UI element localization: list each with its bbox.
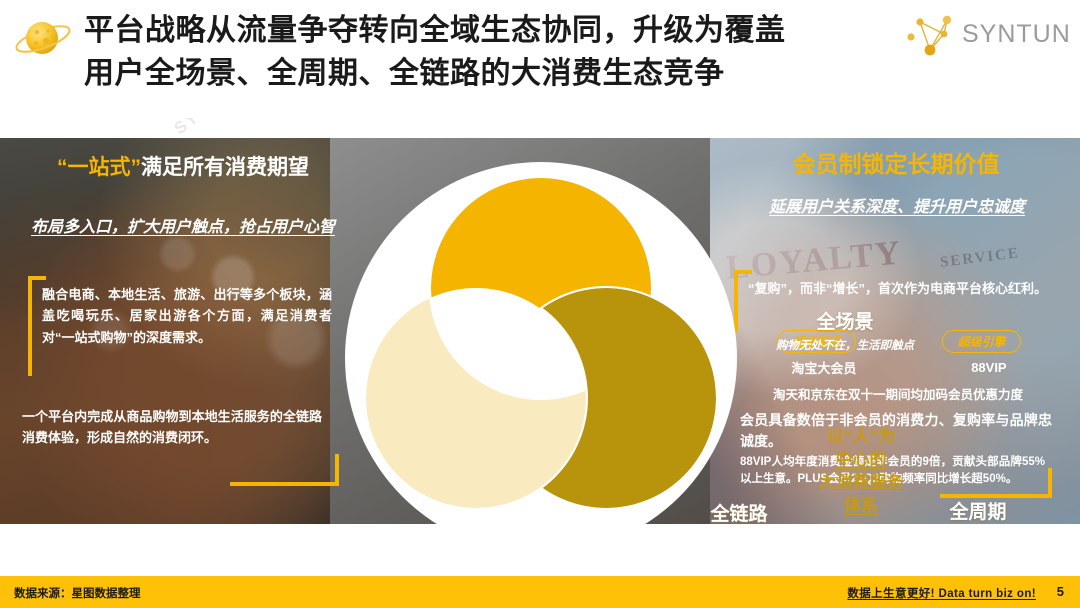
right-bracket-bottom (940, 468, 1052, 498)
badge-sub-88vip: 88VIP (971, 360, 1006, 375)
slide-footer: 数据来源：星图数据整理 数据上生意更好! Data turn biz on! 5 (0, 576, 1080, 608)
core-line2: 中心的 (786, 448, 936, 471)
page-title-line2: 用户全场景、全周期、全链路的大消费生态竞争 (84, 53, 874, 96)
slide-root: 平台战略从流量争夺转向全域生态协同，升级为覆盖 用户全场景、全周期、全链路的大消… (0, 0, 1080, 608)
badge-super-engine: 超级引擎 (942, 330, 1020, 353)
left-heading-rest: 满足所有消费期望 (141, 156, 309, 179)
right-panel-heading: 会员制锁定长期价值 (720, 150, 1072, 180)
badge-super-hub: 超级枢纽 (777, 330, 855, 353)
core-line3: 大消费服务 (786, 471, 936, 494)
content-band: LOYALTY SERVICE “一站式”满足所有消费期望 布局多入口，扩大用户… (0, 138, 1080, 524)
badge-subtitle-row: 淘宝大会员 88VIP (734, 358, 1064, 377)
slide-header: 平台战略从流量争夺转向全域生态协同，升级为覆盖 用户全场景、全周期、全链路的大消… (0, 0, 1080, 118)
wheel-core-label: 以“人”为 中心的 大消费服务 体系 (786, 425, 936, 517)
left-panel-heading: “一站式”满足所有消费期望 (18, 154, 348, 182)
page-title-line1: 平台战略从流量争夺转向全域生态协同，升级为覆盖 (84, 14, 786, 47)
syntun-network-icon (906, 12, 962, 58)
left-heading-highlight: “一站式” (57, 156, 141, 179)
footer-tagline: 数据上生意更好! Data turn biz on! (847, 585, 1036, 601)
planet-icon (12, 14, 74, 64)
core-line1: 以“人”为 (786, 425, 936, 448)
left-panel-body1: 融合电商、本地生活、旅游、出行等多个板块，涵盖吃喝玩乐、居家出游各个方面，满足消… (42, 284, 332, 348)
left-panel-subheading: 布局多入口，扩大用户触点，抢占用户心智 (18, 216, 348, 240)
right-panel-subheading: 延展用户关系深度、提升用户忠诚度 (732, 196, 1062, 220)
badge-row: 超级枢纽 超级引擎 (734, 330, 1064, 353)
page-title: 平台战略从流量争夺转向全域生态协同，升级为覆盖 用户全场景、全周期、全链路的大消… (84, 10, 874, 95)
left-panel-body2: 一个平台内完成从商品购物到本地生活服务的全链路消费体验，形成自然的消费闭环。 (22, 406, 322, 449)
core-line4: 体系 (786, 494, 936, 517)
footer-page-number: 5 (1057, 584, 1064, 599)
left-panel: “一站式”满足所有消费期望 布局多入口，扩大用户触点，抢占用户心智 融合电商、本… (0, 138, 370, 524)
logo-text: SYNTUN (962, 20, 1071, 49)
brand-logo: SYNTUN (906, 12, 1066, 58)
triskelion-diagram: 全场景 购物无处不在，生活即触点 全周期 陪伴每个瞬间 从心动到信赖 全链路 从… (318, 140, 764, 524)
badge-sub-taobao: 淘宝大会员 (791, 358, 856, 377)
footer-source: 数据来源：星图数据整理 (14, 585, 141, 601)
right-panel-body1: “复购”，而非“增长”，首次作为电商平台核心红利。 (748, 278, 1048, 299)
right-panel-note: 淘天和京东在双十一期间均加码会员优惠力度 (728, 384, 1068, 403)
